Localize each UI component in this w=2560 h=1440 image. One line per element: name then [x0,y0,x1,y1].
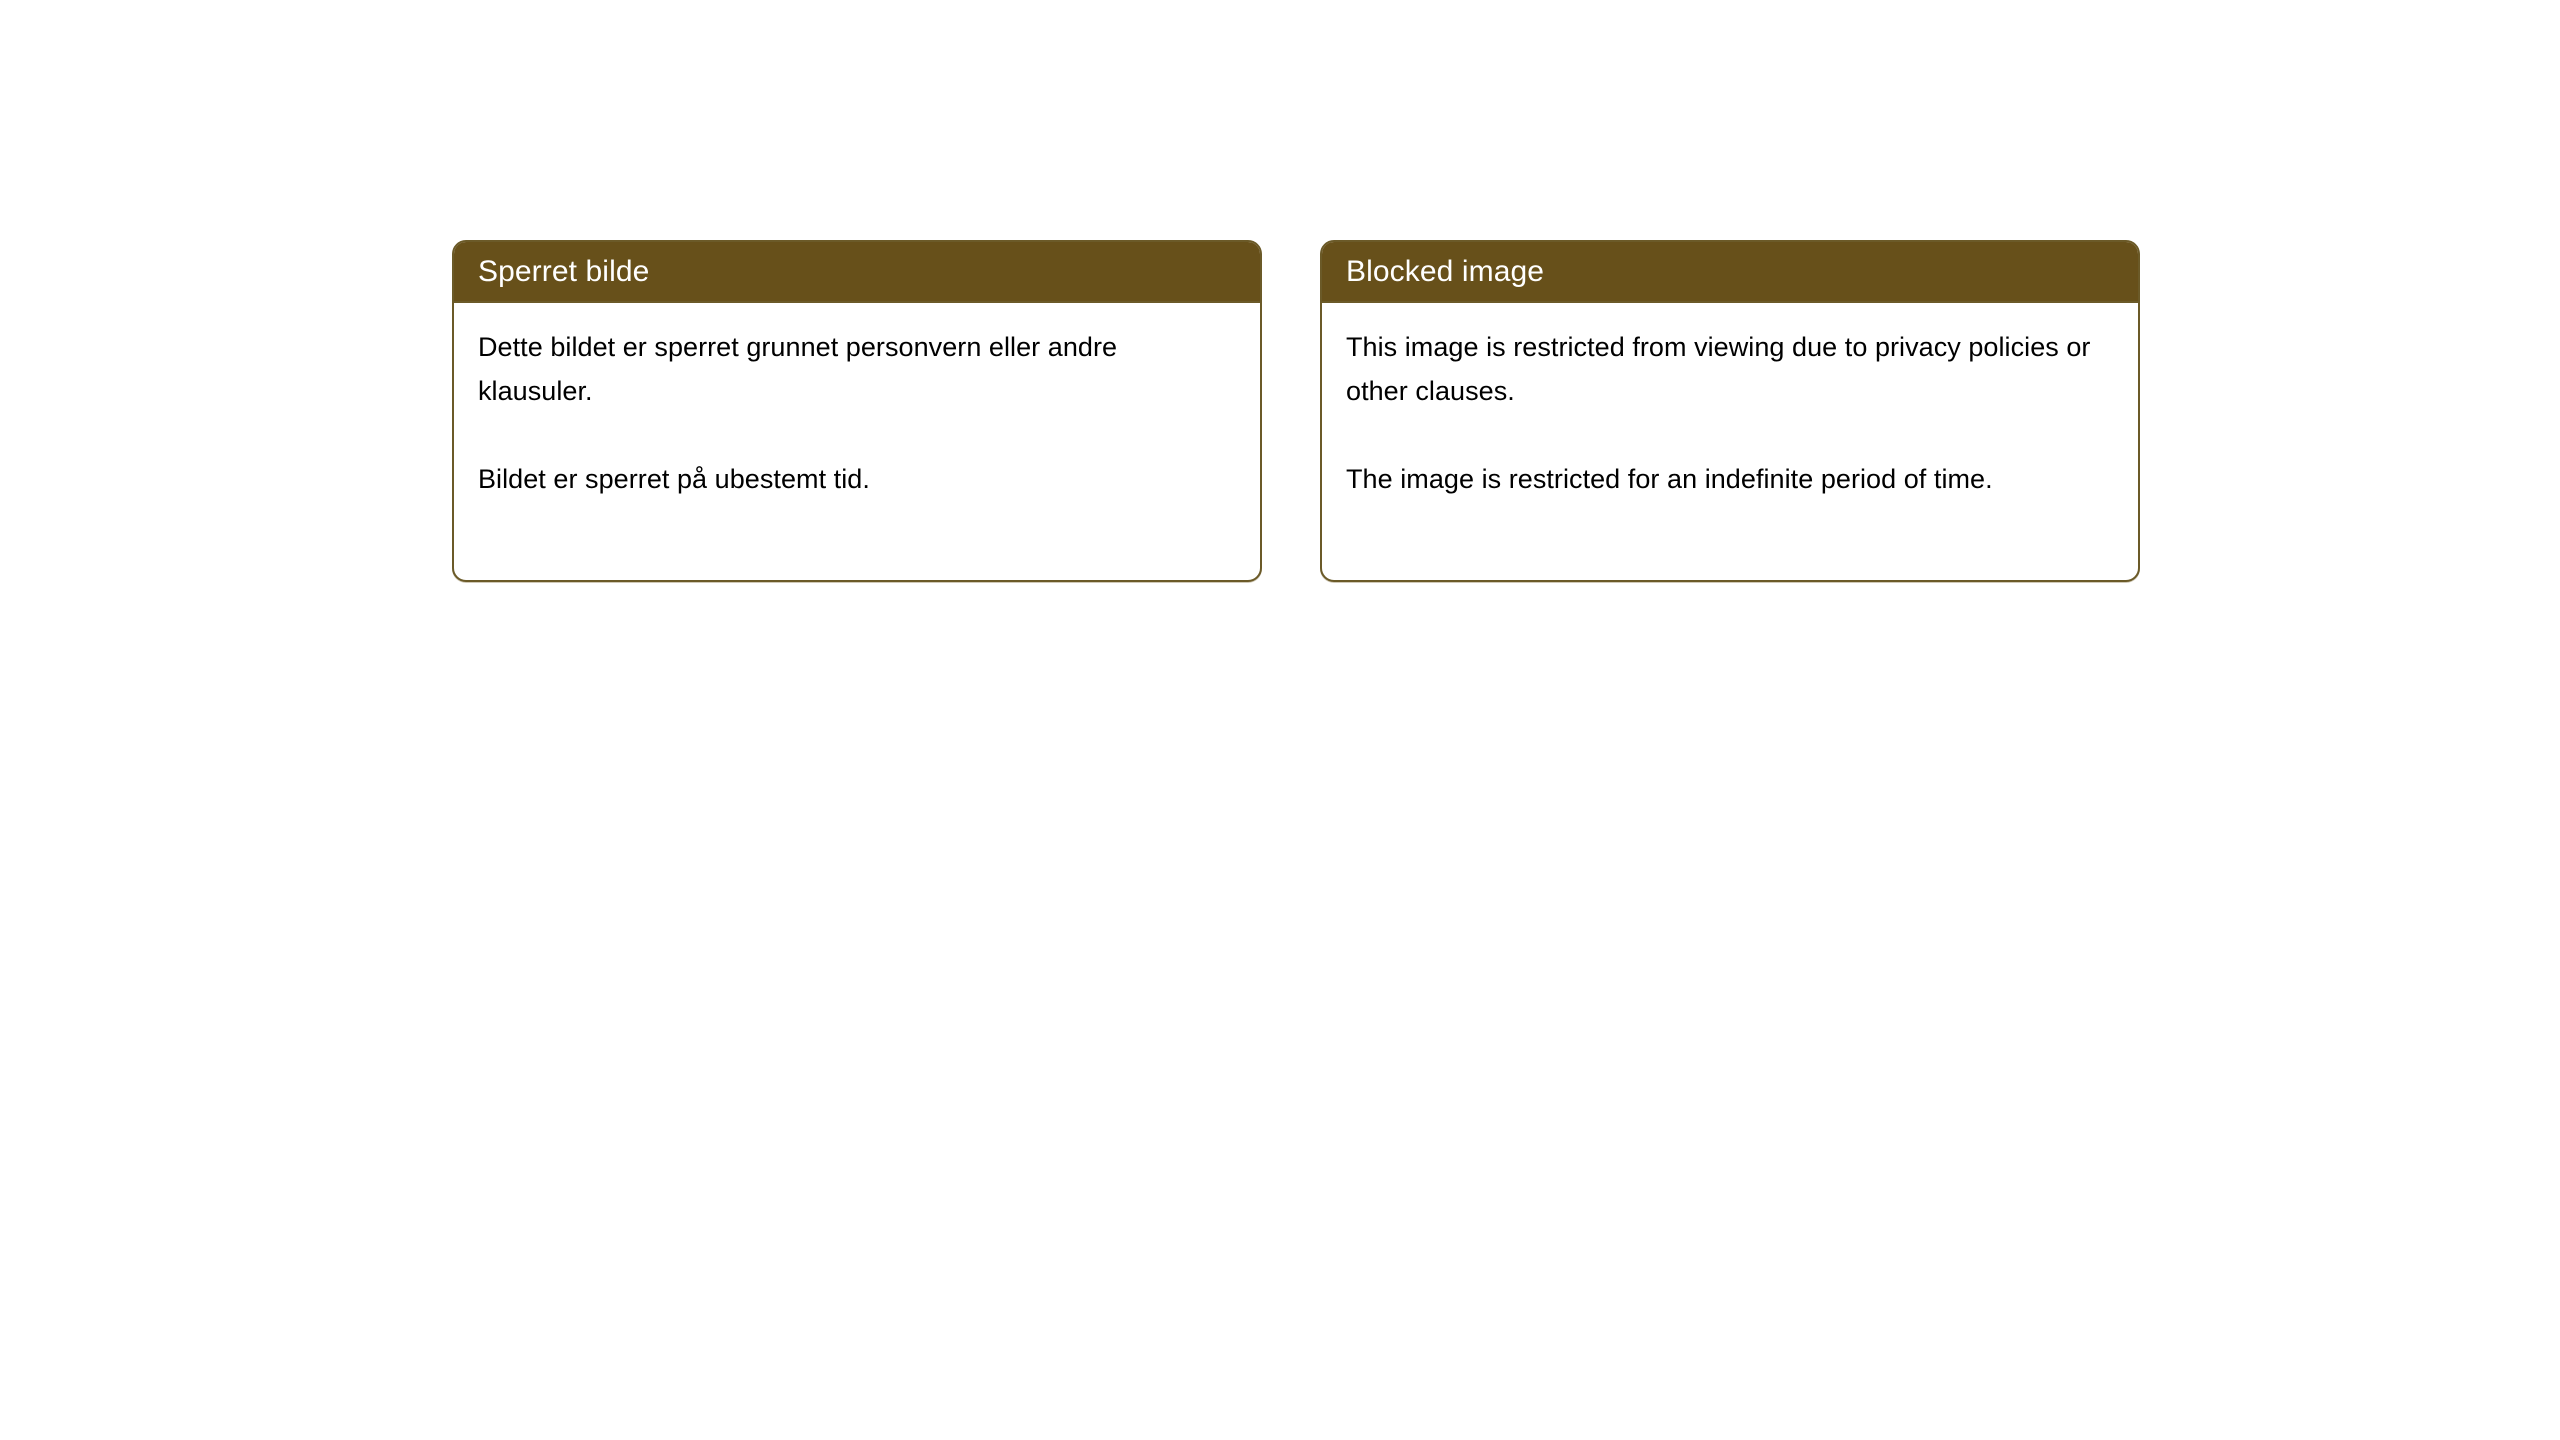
panel-paragraph-secondary-english: The image is restricted for an indefinit… [1346,457,2112,501]
panel-paragraph-primary-norwegian: Dette bildet er sperret grunnet personve… [478,325,1234,413]
panel-header-norwegian: Sperret bilde [454,242,1260,303]
panel-paragraph-primary-english: This image is restricted from viewing du… [1346,325,2112,413]
panel-paragraph-secondary-norwegian: Bildet er sperret på ubestemt tid. [478,457,1234,501]
blocked-image-panel-english: Blocked image This image is restricted f… [1320,240,2140,582]
paragraph-spacer [478,413,1234,457]
panel-title-english: Blocked image [1346,255,1544,289]
panel-header-english: Blocked image [1322,242,2138,303]
blocked-image-panel-norwegian: Sperret bilde Dette bildet er sperret gr… [452,240,1262,582]
paragraph-spacer [1346,413,2112,457]
panel-title-norwegian: Sperret bilde [478,255,649,289]
panel-body-english: This image is restricted from viewing du… [1322,303,2138,501]
panel-body-norwegian: Dette bildet er sperret grunnet personve… [454,303,1260,501]
page-root: Sperret bilde Dette bildet er sperret gr… [0,0,2560,1440]
